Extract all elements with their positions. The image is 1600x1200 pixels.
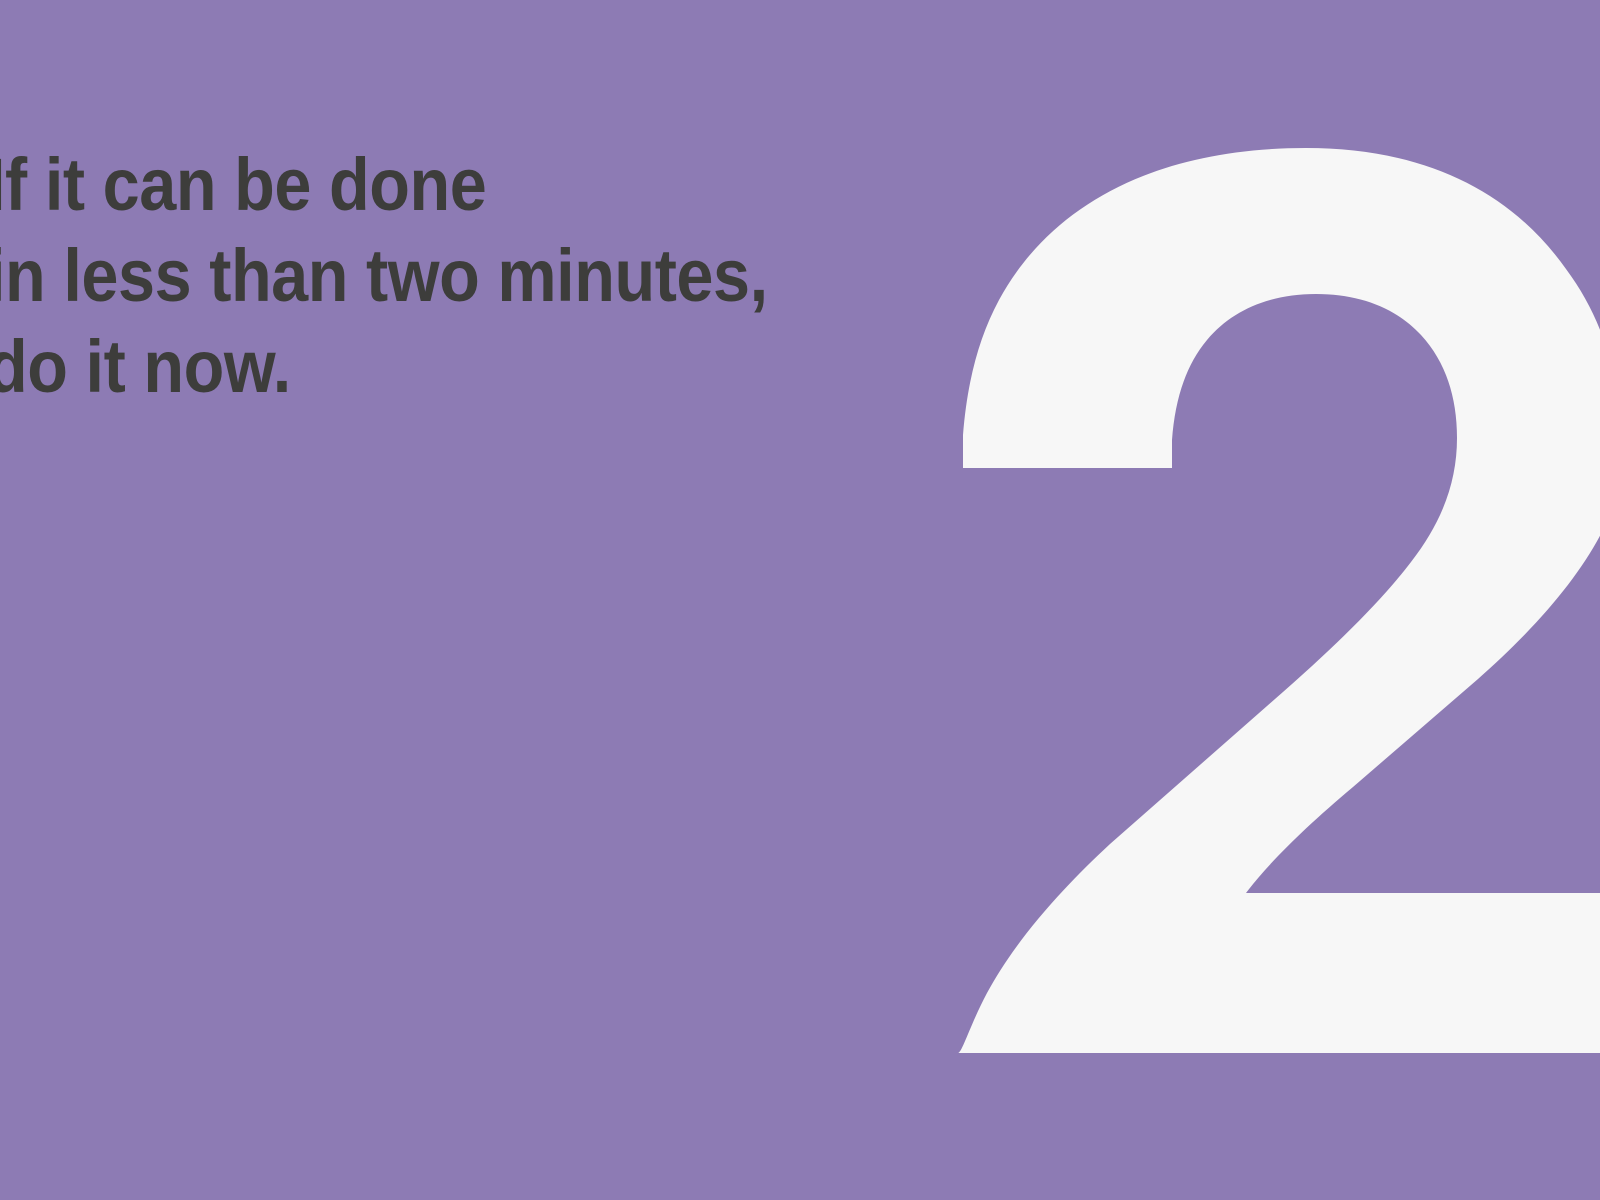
quote-line-3: do it now. [0, 321, 887, 412]
quote-line-2: in less than two minutes, [0, 230, 887, 321]
slide-canvas: If it can be done in less than two minut… [0, 0, 1600, 1200]
numeral-two-icon [958, 148, 1600, 1053]
quote-block: If it can be done in less than two minut… [0, 139, 987, 412]
quote-line-1: If it can be done [0, 139, 887, 230]
